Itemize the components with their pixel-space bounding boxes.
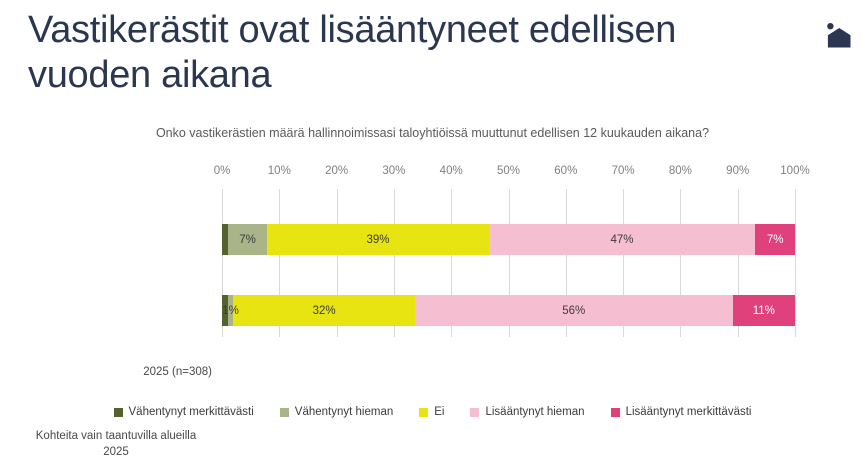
table-row[interactable]: 7%39%47%7%	[222, 224, 795, 255]
x-tick-label: 80%	[669, 165, 692, 177]
bar-segment-value: 47%	[610, 234, 633, 246]
legend-label: Lisääntynyt merkittävästi	[626, 406, 752, 418]
page-title-line-2: vuoden aikana	[28, 53, 808, 98]
x-tick-label: 40%	[440, 165, 463, 177]
legend-swatch	[280, 408, 289, 417]
bar-segment[interactable]: 11%	[733, 295, 795, 326]
legend-label: Vähentynyt merkittävästi	[129, 406, 254, 418]
bar-segment-value: 39%	[366, 234, 389, 246]
x-tick-label: 50%	[497, 165, 520, 177]
x-axis-tick-labels: 0%10%20%30%40%50%60%70%80%90%100%	[222, 165, 795, 187]
bar-segment-value: 7%	[767, 234, 784, 246]
legend-swatch	[419, 408, 428, 417]
bar-segment[interactable]: 47%	[489, 224, 756, 255]
x-tick-label: 70%	[612, 165, 635, 177]
category-label-2025: 2025 (n=308)	[20, 365, 212, 381]
bar-segment[interactable]: 39%	[267, 224, 488, 255]
legend-swatch	[114, 408, 123, 417]
stacked-bar-2025[interactable]: 7%39%47%7%	[222, 224, 795, 255]
x-tick-label: 60%	[554, 165, 577, 177]
legend-item[interactable]: Ei	[419, 406, 444, 418]
stacked-bar-chart: 0%10%20%30%40%50%60%70%80%90%100% 7%39%4…	[0, 165, 865, 365]
table-row[interactable]: 1%32%56%11%	[222, 295, 795, 326]
legend-label: Ei	[434, 406, 444, 418]
house-icon	[826, 22, 852, 50]
legend-swatch	[611, 408, 620, 417]
legend-item[interactable]: Lisääntynyt merkittävästi	[611, 406, 752, 418]
legend-item[interactable]: Lisääntynyt hieman	[470, 406, 584, 418]
x-tick-label: 30%	[382, 165, 405, 177]
legend-swatch	[470, 408, 479, 417]
x-tick-label: 90%	[726, 165, 749, 177]
bar-segment[interactable]: 7%	[228, 224, 268, 255]
bar-segment[interactable]: 32%	[233, 295, 415, 326]
legend-label: Lisääntynyt hieman	[485, 406, 584, 418]
x-tick-label: 10%	[268, 165, 291, 177]
chart-subtitle: Onko vastikerästien määrä hallinnoimissa…	[0, 126, 865, 140]
bar-segment-value: 56%	[562, 305, 585, 317]
bar-segment[interactable]: 56%	[415, 295, 733, 326]
plot-area: 7%39%47%7% 1%32%56%11%	[222, 189, 795, 337]
legend-label: Vähentynyt hieman	[295, 406, 393, 418]
category-label-taantuvat: Kohteita vain taantuvilla alueilla 2025	[20, 429, 212, 460]
slide-canvas: Vastikerästit ovat lisääntyneet edellise…	[0, 0, 865, 435]
bar-segment-value: 32%	[313, 305, 336, 317]
page-title-line-1: Vastikerästit ovat lisääntyneet edellise…	[28, 8, 808, 53]
bar-segment-value: 1%	[222, 305, 239, 317]
x-tick-label: 100%	[780, 165, 809, 177]
legend-item[interactable]: Vähentynyt merkittävästi	[114, 406, 254, 418]
legend-item[interactable]: Vähentynyt hieman	[280, 406, 393, 418]
bar-segment-value: 7%	[239, 234, 256, 246]
x-tick-label: 20%	[325, 165, 348, 177]
page-title: Vastikerästit ovat lisääntyneet edellise…	[28, 8, 808, 98]
bar-segment-value: 11%	[753, 305, 775, 317]
bar-segment[interactable]: 7%	[755, 224, 795, 255]
stacked-bar-taantuvat[interactable]: 1%32%56%11%	[222, 295, 795, 326]
x-tick-label: 0%	[214, 165, 231, 177]
chart-legend: Vähentynyt merkittävästiVähentynyt hiema…	[0, 406, 865, 418]
gridline	[795, 189, 796, 337]
